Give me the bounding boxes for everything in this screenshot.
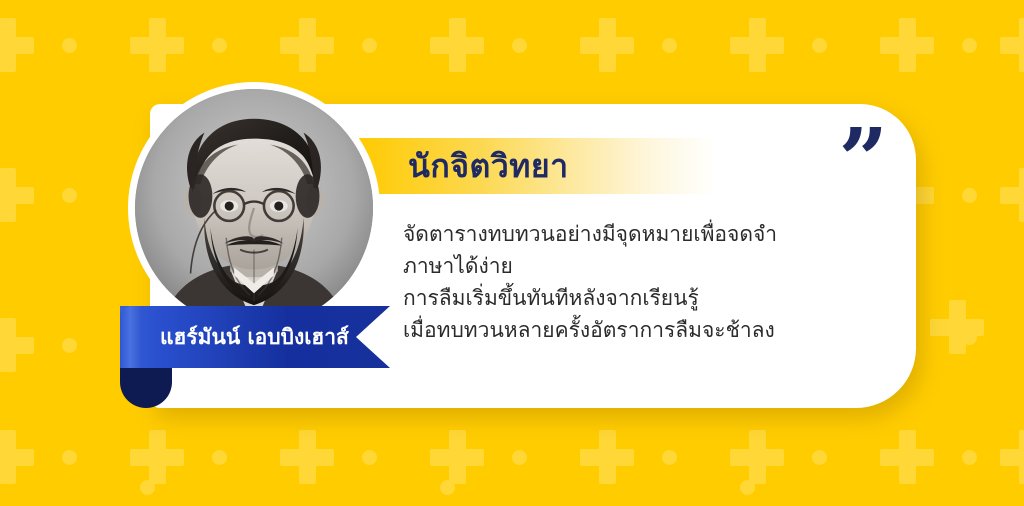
plus-icon <box>0 18 34 72</box>
quote-line: เมื่อทบทวนหลายครั้งอัตราการลืมจะช้าลง <box>403 314 873 346</box>
portrait-photo <box>135 89 373 327</box>
plus-icon <box>730 18 784 72</box>
plus-icon <box>280 430 334 484</box>
dot-icon <box>962 38 977 53</box>
dot-icon <box>812 38 827 53</box>
quote-line: จัดตารางทบทวนอย่างมีจุดหมายเพื่อจดจำ <box>403 218 873 250</box>
plus-icon <box>280 18 334 72</box>
plus-icon <box>0 168 34 222</box>
quote-body: จัดตารางทบทวนอย่างมีจุดหมายเพื่อจดจำ ภาษ… <box>403 218 873 346</box>
dot-icon <box>440 480 455 495</box>
page-title: นักจิตวิทยา <box>408 142 569 190</box>
quote-line: ภาษาได้ง่าย <box>403 250 873 282</box>
ribbon-notch <box>356 306 390 368</box>
quote-line: การลืมเริ่มขึ้นทันทีหลังจากเรียนรู้ <box>403 282 873 314</box>
dot-icon <box>62 188 77 203</box>
plus-icon <box>0 430 34 484</box>
dot-icon <box>212 38 227 53</box>
avatar <box>128 82 380 334</box>
dot-icon <box>362 38 377 53</box>
dot-icon <box>512 450 527 465</box>
plus-icon <box>0 318 34 372</box>
plus-icon <box>880 430 934 484</box>
ribbon-body: แฮร์มันน์ เอบบิงเฮาส์ <box>120 306 390 368</box>
dot-icon <box>662 450 677 465</box>
dot-icon <box>662 38 677 53</box>
quote-card-graphic: นักจิตวิทยา ” จัดตารางทบทวนอย่างมีจุดหมา… <box>0 0 1024 506</box>
dot-icon <box>962 188 977 203</box>
plus-icon <box>1000 430 1024 484</box>
dot-icon <box>212 450 227 465</box>
dot-icon <box>962 330 977 345</box>
name-ribbon: แฮร์มันน์ เอบบิงเฮาส์ <box>120 306 390 368</box>
dot-icon <box>962 450 977 465</box>
plus-icon <box>130 430 184 484</box>
ribbon-curl <box>120 306 142 368</box>
plus-icon <box>730 430 784 484</box>
dot-icon <box>62 338 77 353</box>
plus-icon <box>880 18 934 72</box>
dot-icon <box>140 480 155 495</box>
plus-icon <box>580 430 634 484</box>
dot-icon <box>812 450 827 465</box>
plus-icon <box>130 18 184 72</box>
dot-icon <box>62 38 77 53</box>
portrait-illustration <box>135 89 373 327</box>
author-name: แฮร์มันน์ เอบบิงเฮาส์ <box>160 306 349 368</box>
quote-mark-icon: ” <box>839 118 888 204</box>
plus-icon <box>1000 168 1024 222</box>
plus-icon <box>430 430 484 484</box>
plus-icon <box>1000 18 1024 72</box>
plus-icon <box>930 300 984 354</box>
dot-icon <box>362 450 377 465</box>
dot-icon <box>512 38 527 53</box>
plus-icon <box>430 18 484 72</box>
dot-icon <box>740 480 755 495</box>
dot-icon <box>62 450 77 465</box>
plus-icon <box>580 18 634 72</box>
